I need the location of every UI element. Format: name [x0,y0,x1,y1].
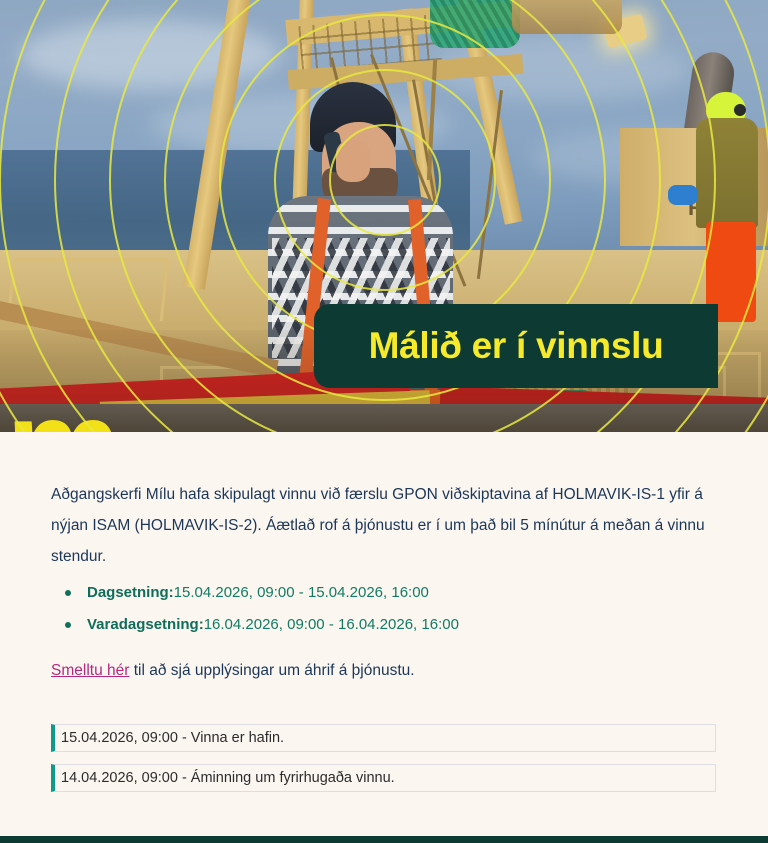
fishing-net [430,0,520,48]
content-area: Aðgangskerfi Mílu hafa skipulagt vinnu v… [0,432,768,843]
page-title: Málið er í vinnslu [369,325,664,367]
net-float [512,0,622,34]
date-list: Dagsetning:15.04.2026, 09:00 - 15.04.202… [51,578,747,642]
page-root: RAF [0,0,768,843]
status-update-row: 14.04.2026, 09:00 - Áminning um fyrirhug… [51,764,716,792]
fisherman-hand [336,140,370,182]
status-update-row: 15.04.2026, 09:00 - Vinna er hafin. [51,724,716,752]
mila-logo: m [6,380,118,432]
worker-glove [668,185,698,205]
alt-date-label: Varadagsetning: [87,616,204,633]
impact-info-line: Smelltu hér til að sjá upplýsingar um áh… [51,659,415,683]
hero-title-plaque: Málið er í vinnslu [314,304,718,388]
list-item: Dagsetning:15.04.2026, 09:00 - 15.04.202… [87,578,747,607]
worker-visor [734,104,746,116]
alt-date-value: 16.04.2026, 09:00 - 16.04.2026, 16:00 [204,616,459,633]
status-update-text: 14.04.2026, 09:00 - Áminning um fyrirhug… [55,770,395,786]
date-label: Dagsetning: [87,584,174,601]
footer-bar [0,836,768,843]
list-item: Varadagsetning:16.04.2026, 09:00 - 16.04… [87,610,747,639]
hero-banner: RAF [0,0,768,432]
status-update-text: 15.04.2026, 09:00 - Vinna er hafin. [55,730,284,746]
worker-jacket [696,118,758,228]
date-value: 15.04.2026, 09:00 - 15.04.2026, 16:00 [174,584,429,601]
impact-info-suffix: til að sjá upplýsingar um áhrif á þjónus… [129,662,414,679]
impact-info-link[interactable]: Smelltu hér [51,662,129,679]
incident-description: Aðgangskerfi Mílu hafa skipulagt vinnu v… [51,479,722,572]
